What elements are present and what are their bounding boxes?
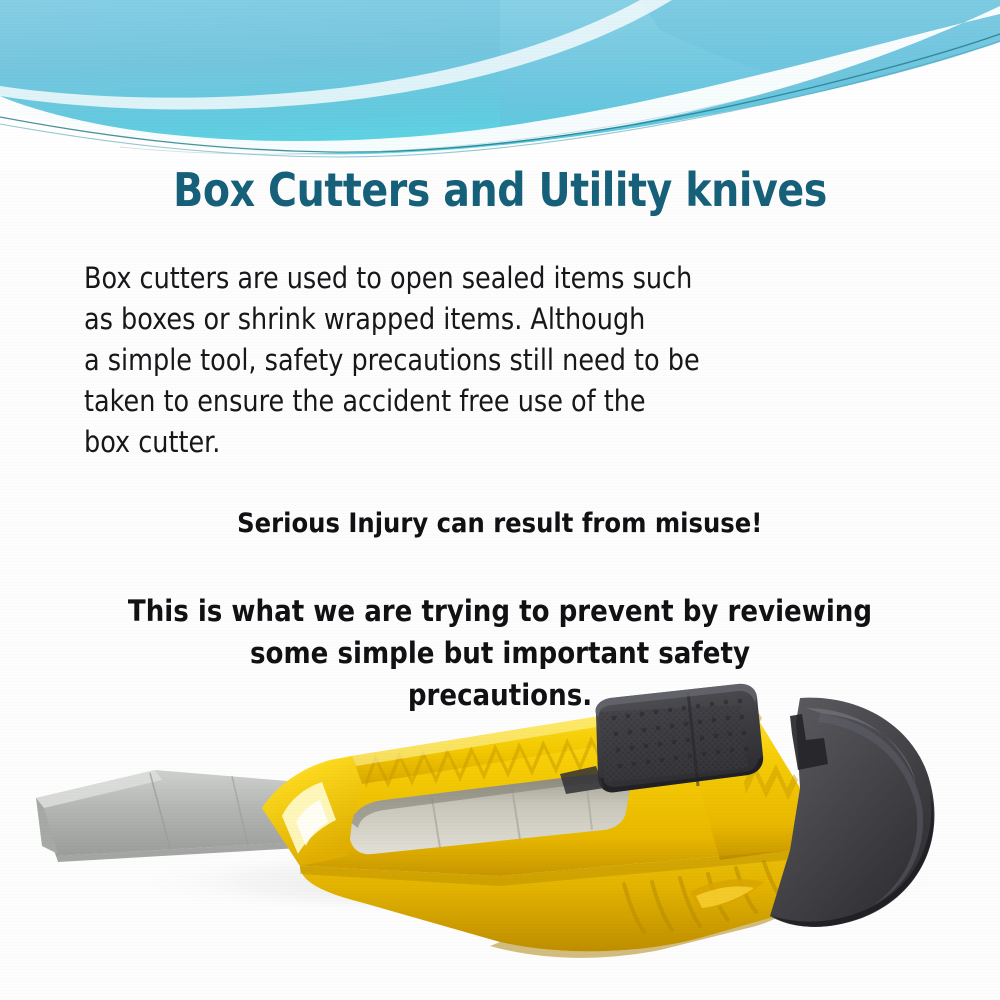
page-title: Box Cutters and Utility knives [70, 163, 930, 217]
purpose-callout-line: This is what we are trying to prevent by… [50, 590, 950, 632]
intro-paragraph-line: a simple tool, safety precautions still … [84, 340, 700, 381]
intro-paragraph-line: taken to ensure the accident free use of… [84, 381, 700, 422]
intro-paragraph-line: Box cutters are used to open sealed item… [84, 258, 700, 299]
warning-callout: Serious Injury can result from misuse! [0, 508, 1000, 539]
slide-root: Box Cutters and Utility knives Box cutte… [0, 0, 1000, 1000]
warning-callout-text: Serious Injury can result from misuse! [237, 508, 762, 539]
purpose-callout-line: precautions. [50, 674, 950, 716]
purpose-callout-line: some simple but important safety [50, 632, 950, 674]
decorative-wave-banner [0, 0, 1000, 170]
purpose-callout: This is what we are trying to prevent by… [0, 590, 1000, 716]
intro-paragraph: Box cutters are used to open sealed item… [84, 258, 784, 463]
intro-paragraph-line: as boxes or shrink wrapped items. Althou… [84, 299, 700, 340]
box-cutter-utility-knife-photo [0, 670, 1000, 1000]
intro-paragraph-line: box cutter. [84, 422, 700, 463]
